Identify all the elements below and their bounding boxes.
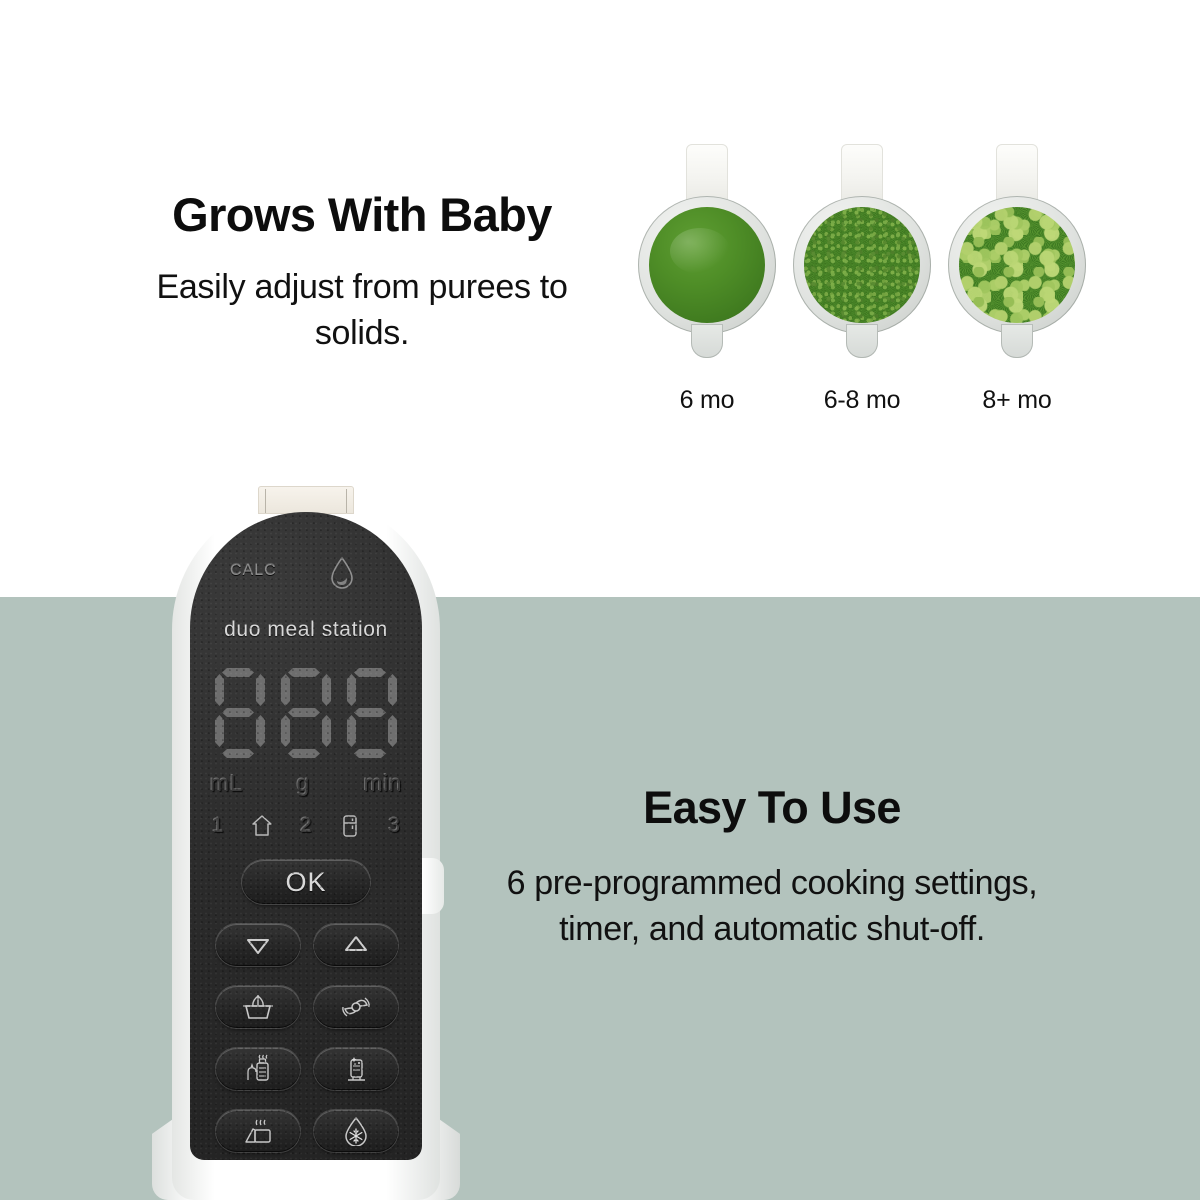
blender-bowl-icon [787, 142, 937, 372]
device-brand-label: duo meal station [190, 618, 422, 642]
blender-bowl-icon [942, 142, 1092, 372]
indicator-level-1: 1 [212, 814, 224, 838]
bowl-caption: 6-8 mo [787, 386, 937, 415]
fridge-icon [339, 814, 361, 838]
bowl-item: 6-8 mo [787, 142, 937, 415]
bottle-sterilize-button[interactable] [314, 1048, 398, 1090]
display-digit [214, 666, 266, 760]
house-icon [251, 814, 273, 838]
bowl-spout [691, 324, 723, 358]
duo-meal-station-device: CALC duo meal station [150, 486, 460, 1200]
display-digit [346, 666, 398, 760]
blender-bowl-icon [632, 142, 782, 372]
chevron-up-icon [341, 931, 371, 959]
grows-with-baby-block: Grows With Baby Easily adjust from puree… [122, 190, 602, 357]
steam-cook-button[interactable] [216, 986, 300, 1028]
bowl-caption: 6 mo [632, 386, 782, 415]
bowl-item: 8+ mo [942, 142, 1092, 415]
display-indicator-row: 1 2 3 [212, 814, 400, 838]
unit-label-ml: mL [210, 770, 243, 797]
bowl-spout [1001, 324, 1033, 358]
easy-to-use-subtext: 6 pre-programmed cooking settings, timer… [472, 860, 1072, 952]
indicator-level-3: 3 [388, 814, 400, 838]
bowl-spout [846, 324, 878, 358]
bowl-jar [638, 196, 776, 334]
unit-label-g: g [297, 770, 310, 797]
ok-button[interactable]: OK [242, 860, 370, 904]
device-side-latch[interactable] [422, 858, 444, 914]
blend-button[interactable] [314, 986, 398, 1028]
water-drop-icon [328, 556, 356, 590]
bowl-food-fine-chop [804, 207, 920, 323]
bowl-food-coarse-chop [959, 207, 1075, 323]
display-digit [280, 666, 332, 760]
ok-button-label: OK [285, 867, 326, 898]
easy-to-use-heading: Easy To Use [472, 782, 1072, 834]
bottle-warmer-icon [241, 1054, 275, 1084]
unit-label-min: min [363, 770, 402, 797]
blend-icon [339, 992, 373, 1022]
bowl-comparison-row: 6 mo 6-8 mo 8+ mo [632, 142, 1092, 432]
bottle-warmer-button[interactable] [216, 1048, 300, 1090]
panel-status-row: CALC [190, 556, 422, 590]
reheat-icon [241, 1116, 275, 1146]
grows-with-baby-heading: Grows With Baby [122, 190, 602, 239]
bowl-item: 6 mo [632, 142, 782, 415]
display-unit-row: mL g min [210, 770, 402, 797]
defrost-icon [339, 1116, 373, 1146]
bowl-jar [793, 196, 931, 334]
device-display [214, 664, 398, 762]
grows-with-baby-subtext: Easily adjust from purees to solids. [122, 265, 602, 357]
defrost-button[interactable] [314, 1110, 398, 1152]
bottle-sterilize-icon [339, 1054, 373, 1084]
bowl-caption: 8+ mo [942, 386, 1092, 415]
indicator-level-2: 2 [300, 814, 312, 838]
bowl-jar [948, 196, 1086, 334]
calc-indicator-label: CALC [230, 562, 277, 580]
chevron-down-icon [243, 931, 273, 959]
decrease-button[interactable] [216, 924, 300, 966]
device-control-panel: CALC duo meal station [190, 512, 422, 1160]
reheat-button[interactable] [216, 1110, 300, 1152]
bowl-food-puree [649, 207, 765, 323]
device-water-tank-tab[interactable] [258, 486, 354, 514]
easy-to-use-block: Easy To Use 6 pre-programmed cooking set… [472, 782, 1072, 952]
steam-basket-icon [241, 992, 275, 1022]
increase-button[interactable] [314, 924, 398, 966]
